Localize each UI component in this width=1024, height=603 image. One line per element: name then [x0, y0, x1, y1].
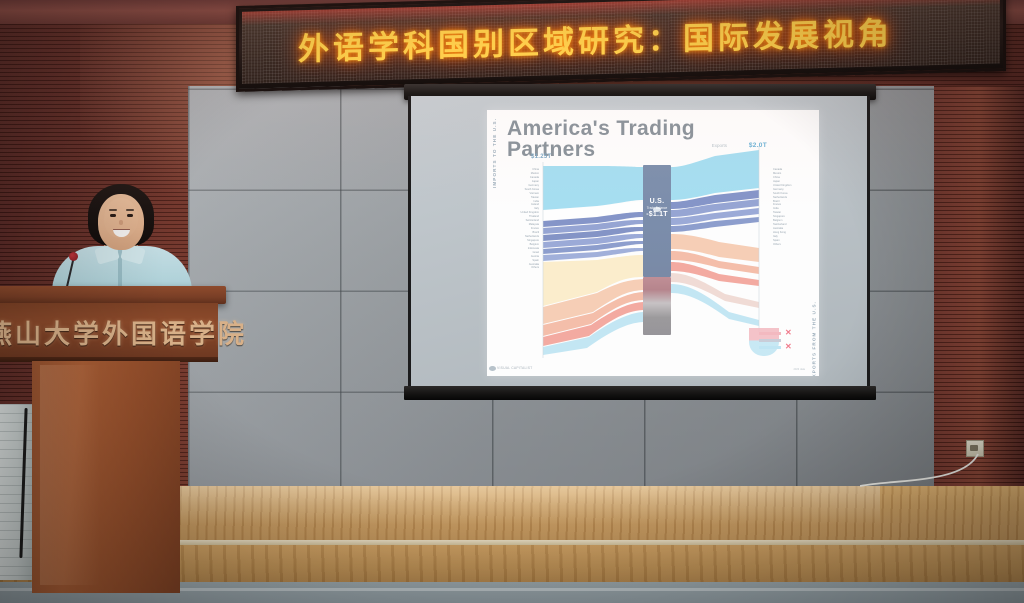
wall-outlet-socket	[970, 445, 978, 451]
exports-prefix-label: Exports	[712, 143, 727, 148]
lecture-hall-photo: 外语学科国别区域研究：国际发展视角 America's Trading Part…	[0, 0, 1024, 603]
podium-body-highlight	[40, 365, 100, 585]
exports-axis-label: EXPORTS FROM THE U.S.	[812, 301, 817, 376]
side-unit-vents	[0, 404, 32, 580]
legend-swatch-exports	[759, 332, 781, 335]
sankey-center-node-upper	[643, 165, 671, 277]
sankey-center-node-lower	[643, 277, 671, 335]
speaker-eyebrow-left	[109, 209, 117, 211]
podium-institution-text: 燕山大学外国语学院	[0, 314, 222, 351]
speaker-eyebrow-right	[126, 209, 134, 211]
center-node-name: U.S.	[643, 198, 671, 205]
microphone-head-icon	[69, 252, 78, 261]
speaker-nose	[119, 220, 123, 225]
slide-footnote: 2023 data	[793, 368, 805, 371]
source-logo-icon	[489, 366, 496, 371]
sankey-center-label: U.S. Trade Balance -$1.1T	[643, 198, 671, 218]
left-partner-list: ChinaMexico CanadaJapan GermanySouth Kor…	[499, 168, 539, 270]
presentation-slide: America's Trading Partners	[487, 110, 819, 376]
right-partner-list: CanadaMexico ChinaJapan United KingdomGe…	[773, 168, 813, 247]
imports-total-label: $1.25T	[531, 154, 551, 160]
right-wood-pillar	[934, 86, 1024, 496]
exports-total-label: $2.0T	[749, 142, 767, 149]
slide-source-text: VISUAL CAPITALIST	[497, 366, 532, 370]
power-cable	[860, 452, 980, 492]
legend-swatch-neutral	[759, 339, 781, 342]
stage-floor-reflection	[180, 486, 880, 532]
legend-swatch-imports	[759, 346, 781, 349]
projection-screen-bottom-bar	[404, 386, 876, 400]
speaker-eye-left	[110, 214, 116, 217]
podium-top	[0, 286, 226, 304]
speaker-eye-right	[127, 214, 133, 217]
center-node-value: -$1.1T	[643, 211, 671, 218]
wall-side-unit	[0, 404, 32, 580]
imports-axis-label: IMPORTS TO THE U.S.	[492, 118, 497, 188]
legend-x-mark-1: ✕	[785, 330, 792, 336]
legend-x-mark-2: ✕	[785, 344, 792, 350]
slide-legend: ✕ ✕	[749, 326, 811, 360]
center-node-sub: Trade Balance	[643, 206, 671, 210]
